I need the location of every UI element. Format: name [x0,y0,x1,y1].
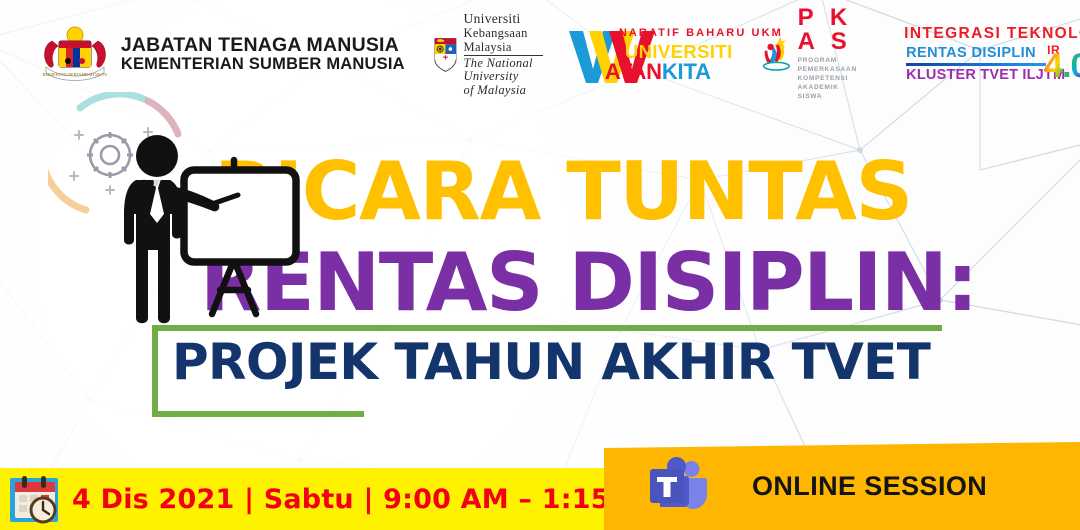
headline-line-1: BICARA TUNTAS [214,152,912,232]
naratif-bottom-a: ATAN [605,59,662,84]
microsoft-teams-icon [646,457,708,515]
calendar-clock-icon [8,474,62,524]
ukm-line3: Malaysia [464,40,543,54]
pkas-title: P K A S [798,6,875,54]
ukm-crest-icon [433,23,458,85]
integrasi-line3: KLUSTER TVET ILJTM [906,67,1065,83]
pkas-sub1: PROGRAM PEMERKASAAN [798,57,875,75]
subtitle-green-frame [152,325,942,411]
naratif-top-text: NARATIF BAHARU UKM [619,27,783,39]
date-bar: 4 Dis 2021 | Sabtu | 9:00 AM – 1:15 PM [0,468,606,530]
integrasi-divider [906,63,1046,66]
online-session-label: ONLINE SESSION [752,471,987,502]
jtm-line1: JABATAN TENAGA MANUSIA [121,35,405,56]
ukm-sub1: The National University [464,57,543,83]
integrasi-version-label: 4.0 [1044,47,1080,86]
integrasi-line2: RENTAS DISIPLIN [906,45,1036,61]
headline-line-2: RENTAS DISIPLIN: [200,243,977,323]
online-session-bar: ONLINE SESSION [604,442,1080,530]
naratif-bottom-b: KITA [662,59,711,84]
logo-ukm: Universiti Kebangsaan Malaysia The Natio… [433,11,543,96]
logo-naratif-baharu-ukm: NARATIF BAHARU UKM UNIVERSITI ATANKITA [567,25,735,83]
svg-text:BERSEKUTU BERTAMBAH MUTU: BERSEKUTU BERTAMBAH MUTU [42,72,107,77]
logo-strip: BERSEKUTU BERTAMBAH MUTU JABATAN TENAGA … [0,0,1080,108]
pkas-sub3: SISWA [798,93,875,102]
logo-jabatan-tenaga-manusia: BERSEKUTU BERTAMBAH MUTU JABATAN TENAGA … [38,23,405,85]
ukm-line1: Universiti [464,11,543,26]
presenter-illustration [112,122,302,332]
ukm-line2: Kebangsaan [464,26,543,40]
event-date-text: 4 Dis 2021 | Sabtu | 9:00 AM – 1:15 PM [72,484,666,515]
integrasi-line1: INTEGRASI TEKNOLOGI [904,25,1080,43]
malaysia-coat-of-arms-icon: BERSEKUTU BERTAMBAH MUTU [38,23,112,85]
pkas-sub2: KOMPETENSI AKADEMIK [798,75,875,93]
logo-pkas: P K A S PROGRAM PEMERKASAAN KOMPETENSI A… [761,6,874,101]
jtm-line2: KEMENTERIAN SUMBER MANUSIA [121,56,405,73]
ukm-sub2: of Malaysia [464,84,543,97]
event-poster: BERSEKUTU BERTAMBAH MUTU JABATAN TENAGA … [0,0,1080,530]
logo-integrasi-teknologi: INTEGRASI TEKNOLOGI RENTAS DISIPLIN KLUS… [904,23,1080,85]
